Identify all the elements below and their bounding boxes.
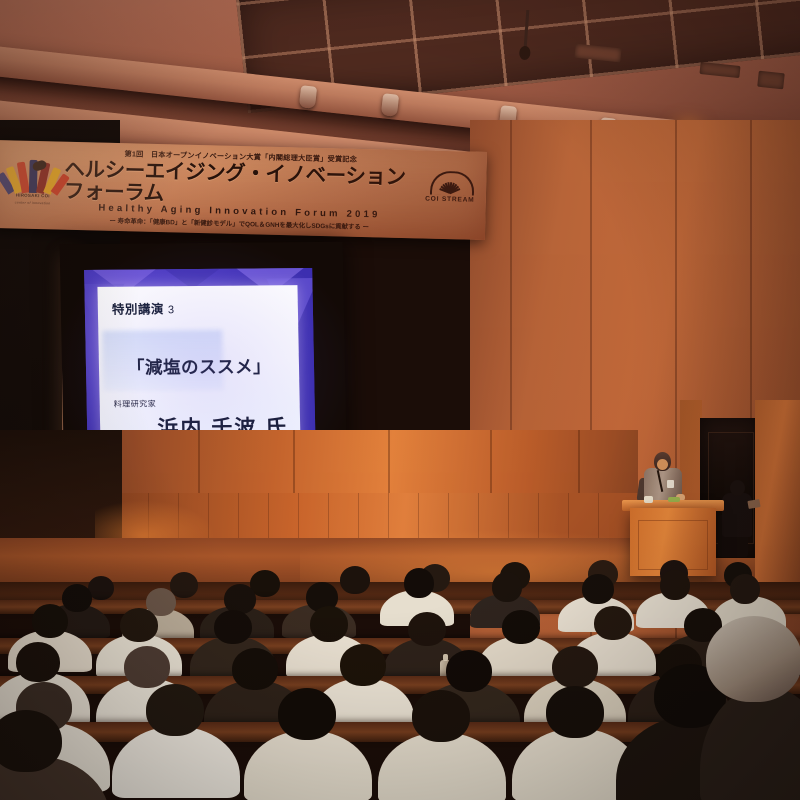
audience-head: [120, 608, 158, 642]
audience-seating: [0, 560, 800, 800]
coi-rays-icon: [430, 173, 470, 194]
conference-hall-photo: HIROSAKI COi center of innovation 第1回 日本…: [0, 0, 800, 800]
audience-head: [62, 584, 92, 612]
podium-item-green: [668, 497, 680, 502]
audience-head: [594, 606, 632, 640]
audience-head: [404, 568, 434, 598]
audience-head: [310, 606, 348, 642]
coi-stream-label: COI STREAM: [422, 195, 478, 203]
hirosaki-coi-caption: HIROSAKI COi center of innovation: [2, 192, 64, 207]
audience-head-foreground: [0, 710, 62, 772]
banner-text-block: 第1回 日本オープンイノベーション大賞「内閣総理大臣賞」受賞記念 ヘルシーエイジ…: [63, 144, 417, 233]
slide-content-card: 特別講演 3 「減塩のススメ」 料理研究家 浜内 千波 氏: [97, 285, 300, 449]
audience-head: [170, 572, 198, 598]
audience-head: [16, 642, 60, 682]
audience-head: [446, 650, 492, 692]
event-banner: HIROSAKI COi center of innovation 第1回 日本…: [0, 140, 487, 240]
ceiling-vent: [757, 71, 785, 90]
speaker-face: [657, 459, 668, 470]
audience-head: [552, 646, 598, 688]
audience-head: [232, 648, 278, 690]
ceiling-vent: [699, 62, 740, 78]
audience-head: [660, 570, 690, 600]
audience-head: [214, 610, 252, 644]
audience-head: [408, 612, 446, 646]
audience-head: [340, 566, 370, 594]
slide-session-heading: 特別講演 3: [112, 298, 175, 318]
slide-speaker-role: 料理研究家: [114, 398, 157, 409]
audience-head: [412, 690, 470, 742]
coi-stream-logo: COI STREAM: [421, 170, 478, 217]
audience-head: [730, 574, 760, 604]
audience-head: [492, 572, 522, 602]
staff-body: [722, 493, 752, 537]
audience-head-grayhair-foreground: [706, 616, 800, 702]
audience-shoulders: [378, 732, 506, 800]
podium-item-paper: [644, 496, 653, 503]
audience-head: [340, 644, 386, 686]
staff-head: [730, 480, 745, 496]
audience-head: [146, 684, 204, 736]
audience-head: [32, 604, 68, 638]
hirosaki-coi-logo: HIROSAKI COi center of innovation: [1, 148, 64, 211]
speaker-name-badge: [667, 480, 674, 488]
audience-head: [582, 574, 614, 604]
audience-head: [124, 646, 170, 688]
apple-fan-icon: [8, 158, 59, 193]
audience-head: [502, 610, 540, 644]
slide-talk-title: 「減塩のススメ」: [99, 353, 299, 380]
audience-head: [278, 688, 336, 740]
audience-head: [546, 686, 604, 738]
